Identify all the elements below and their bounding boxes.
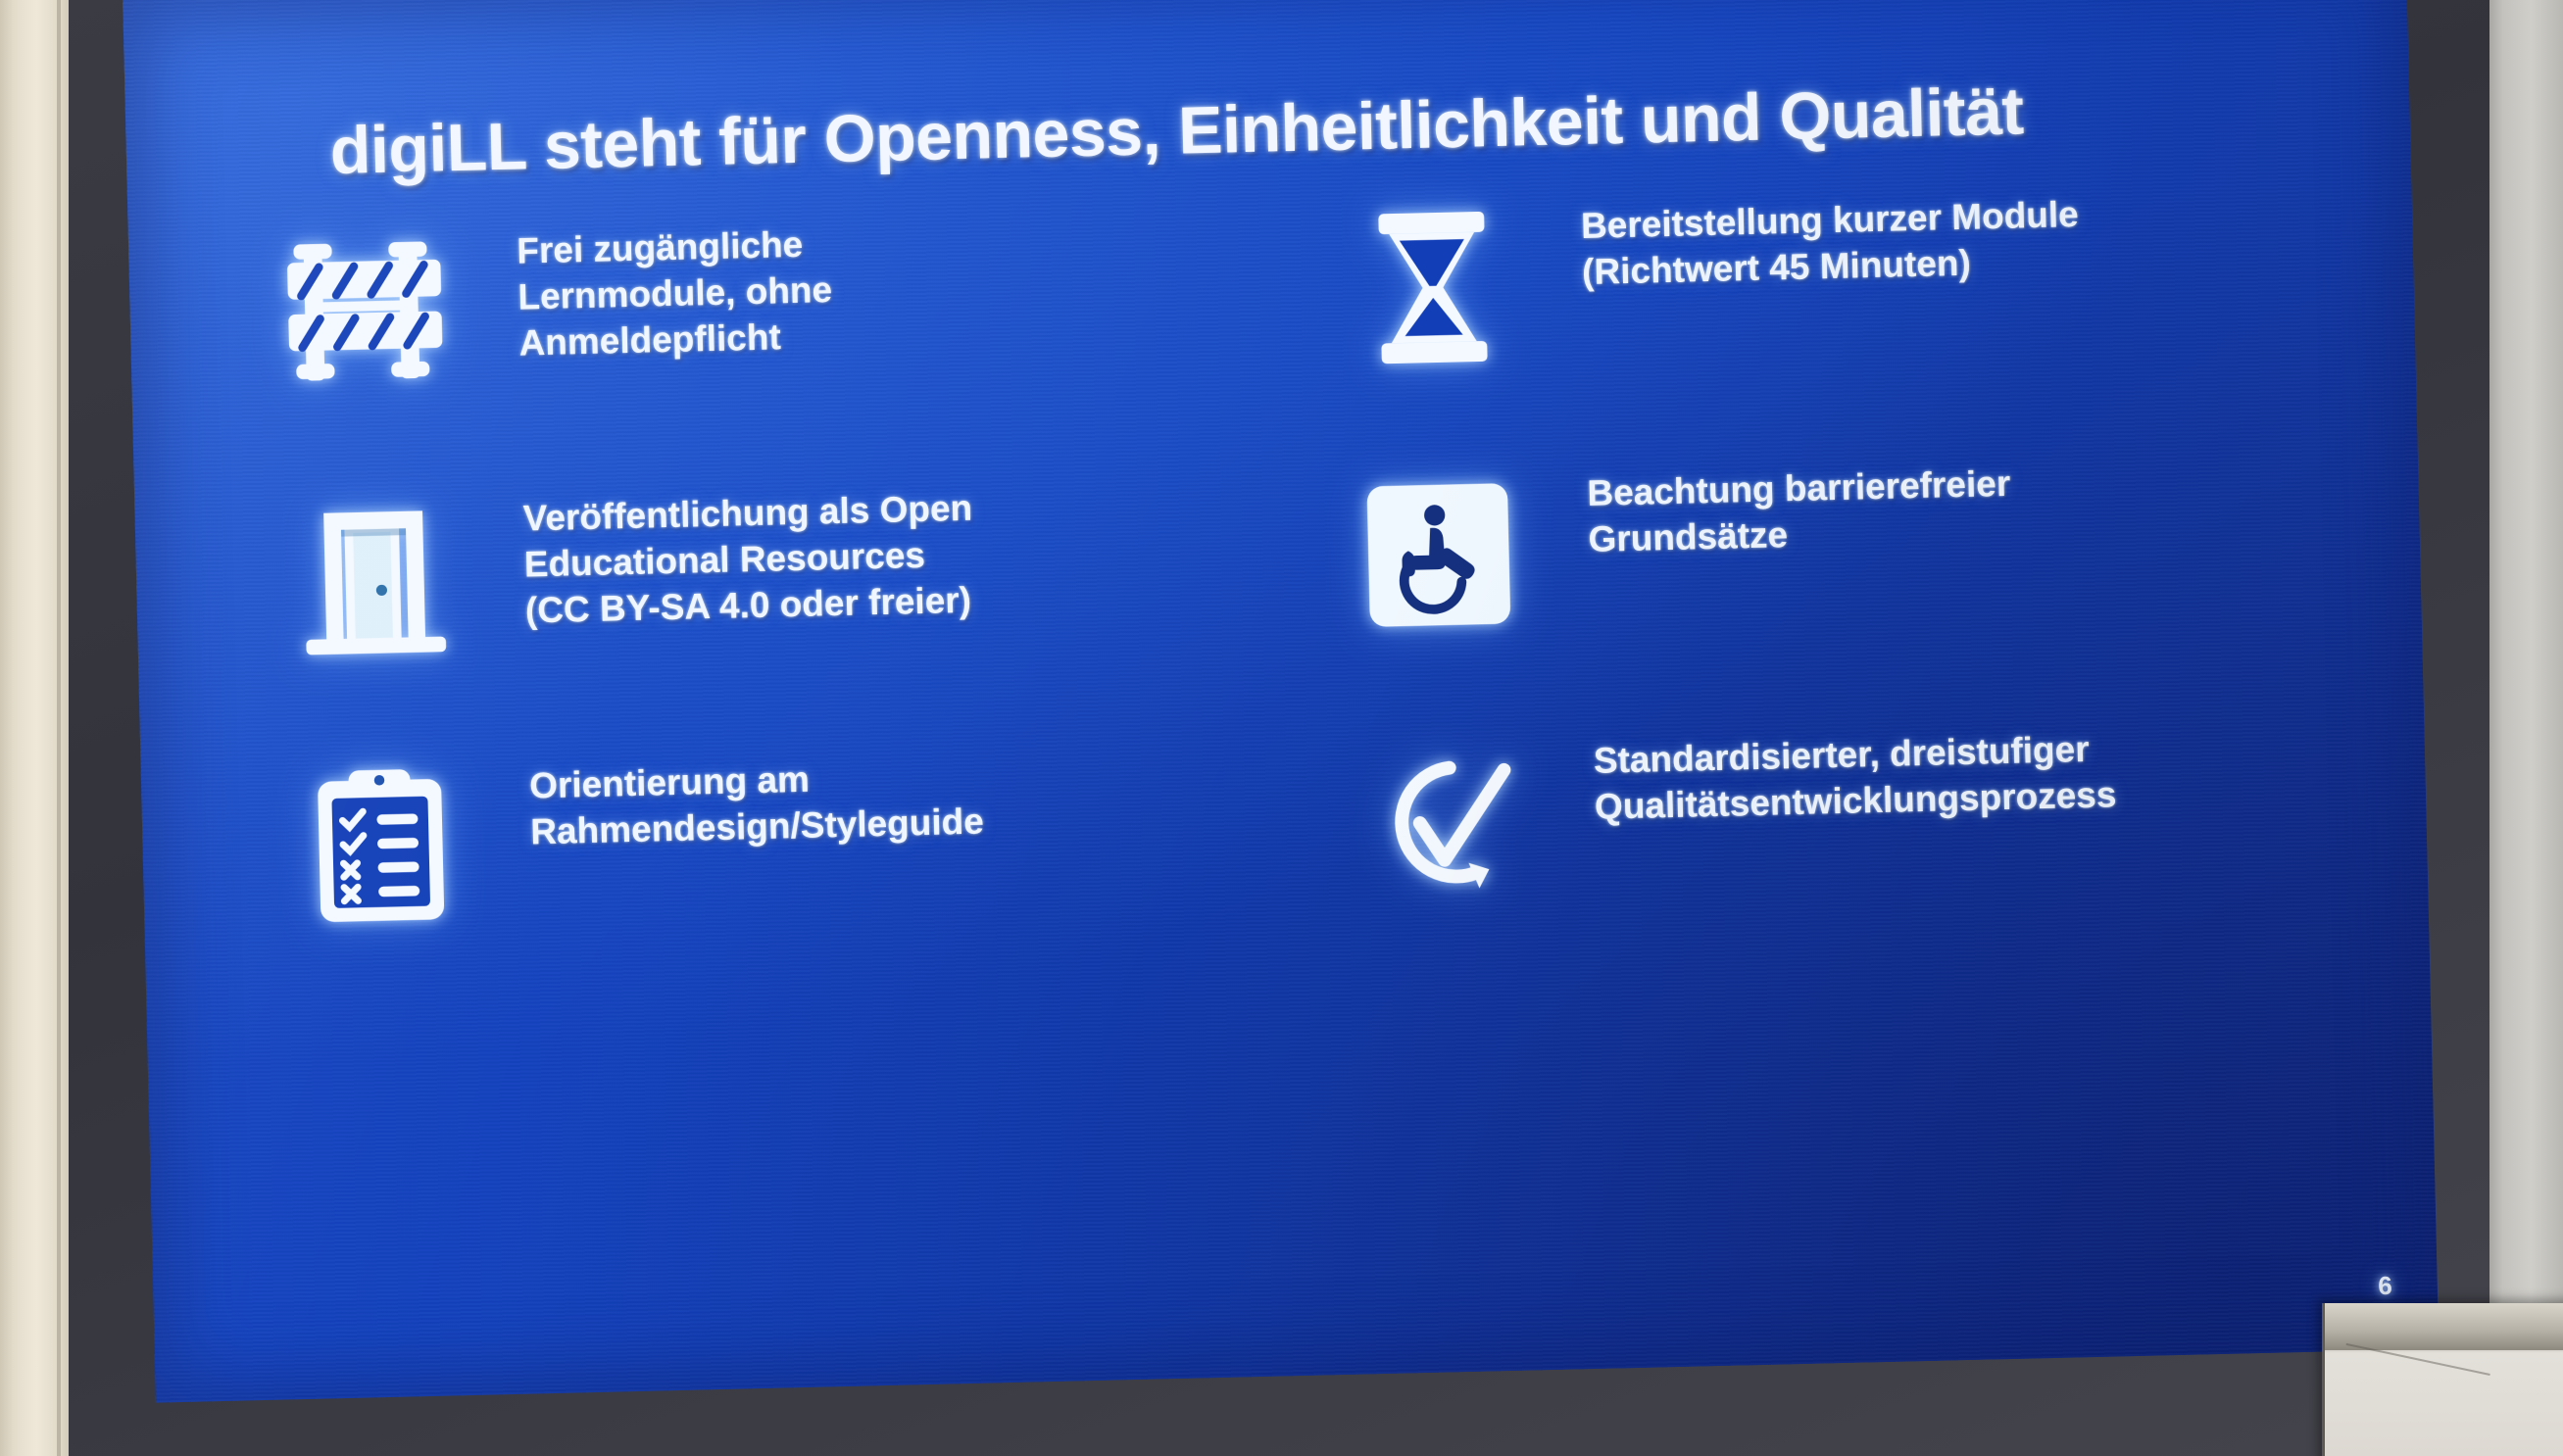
feature-item-short-modules: Bereitstellung kurzer Module (Richtwert … [1307, 180, 2325, 375]
feature-item-accessibility: Beachtung barrierefreier Grundsätze [1314, 448, 2332, 643]
slide-content: digiLL steht für Openness, Einheitlichke… [123, 0, 2439, 1403]
clipboard-checklist-icon [257, 758, 506, 936]
feature-item-open-access: Frei zugängliche Lernmodule, ohne Anmeld… [244, 206, 1261, 401]
wall-seam [57, 0, 61, 1456]
feature-text: Orientierung am Rahmendesign/Styleguide [529, 741, 1272, 856]
projected-slide: digiLL steht für Openness, Einheitlichke… [123, 0, 2439, 1403]
room-wall-left [0, 0, 76, 1456]
room-wall-right [2483, 0, 2563, 1456]
feature-text: Bereitstellung kurzer Module (Richtwert … [1580, 180, 2323, 296]
wheelchair-accessibility-icon [1314, 466, 1563, 644]
whiteboard-panel [2322, 1303, 2563, 1456]
slide-page-number: 6 [2378, 1271, 2392, 1301]
feature-item-quality-process: Standardisierter, dreistufiger Qualitäts… [1320, 715, 2338, 910]
feature-item-oer: Veröffentlichung als Open Educational Re… [250, 473, 1267, 668]
open-door-icon [250, 491, 499, 668]
feature-text: Veröffentlichung als Open Educational Re… [522, 473, 1266, 635]
hourglass-icon [1307, 199, 1556, 376]
feature-grid: Frei zugängliche Lernmodule, ohne Anmeld… [244, 180, 2338, 936]
feature-text: Standardisierter, dreistufiger Qualitäts… [1593, 715, 2336, 831]
feature-text: Beachtung barrierefreier Grundsätze [1587, 448, 2330, 563]
feature-text: Frei zugängliche Lernmodule, ohne Anmeld… [517, 206, 1260, 367]
whiteboard-crease [2338, 1343, 2489, 1414]
refresh-check-icon [1320, 734, 1569, 911]
road-barrier-icon [244, 223, 493, 401]
slide-title: digiLL steht für Openness, Einheitlichke… [329, 73, 2024, 189]
feature-item-styleguide: Orientierung am Rahmendesign/Styleguide [257, 741, 1274, 936]
whiteboard-top-edge [2325, 1303, 2563, 1350]
photo-of-projected-slide: digiLL steht für Openness, Einheitlichke… [0, 0, 2563, 1456]
